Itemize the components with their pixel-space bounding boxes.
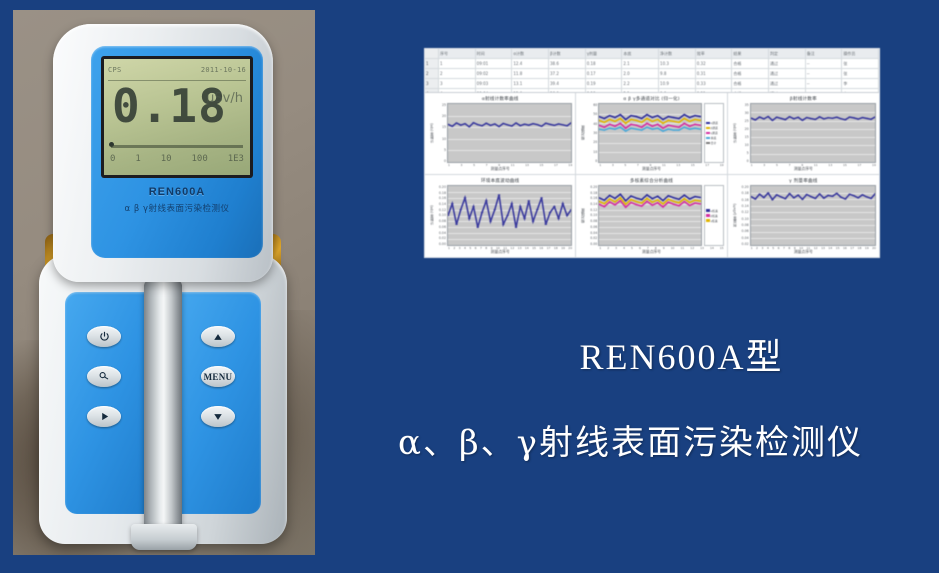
chart-data-point — [532, 123, 535, 124]
slide-root: 核技术应用 MENU 有限公司 — [0, 0, 939, 573]
chart-legend-swatch — [706, 142, 710, 145]
spreadsheet-cell: 序号 — [439, 49, 476, 58]
chart-y-tick: 0.18 — [585, 191, 597, 195]
chart-legend-item: β通道 — [706, 126, 722, 130]
chart-data-point — [604, 129, 606, 130]
chart-data-point — [625, 123, 627, 124]
chart-data-point — [662, 123, 664, 124]
chart-data-point — [652, 117, 654, 118]
chart-data-point — [448, 215, 449, 216]
chart-data-point — [848, 116, 851, 117]
chart-data-point — [476, 227, 479, 228]
chart-data-point — [668, 120, 670, 121]
chart-x-axis-label: 测量点序号 — [731, 167, 876, 172]
chart-data-point — [502, 123, 505, 124]
chart-data-point — [758, 194, 761, 195]
chart-data-point — [609, 119, 611, 120]
lcd-status-date: 2011-10-16 — [201, 66, 246, 74]
chart-y-ticks: 0.200.180.160.140.120.100.080.060.040.02… — [585, 185, 598, 246]
chart-data-point — [762, 118, 765, 119]
chart-data-point — [694, 128, 696, 129]
chart-y-tick: 10 — [737, 143, 749, 147]
chart-gridline — [751, 245, 875, 246]
chart-data-point — [673, 117, 675, 118]
lcd-bezel: CPS 2011-10-16 0.18 µSv/h 0 1 10 — [101, 56, 253, 178]
spreadsheet-cell: α计数 — [512, 49, 549, 58]
chart-title: 多核素综合分析曲线 — [579, 178, 723, 184]
chart-data-point — [865, 196, 868, 197]
chart-y-ticks: 35302520151050 — [737, 103, 750, 163]
chart-y-tick: 20 — [737, 127, 749, 131]
chart-data-point — [662, 128, 664, 129]
chart-data-point — [684, 198, 686, 199]
spreadsheet-cell: 0.19 — [586, 79, 623, 88]
chart-y-tick: 0.06 — [737, 229, 749, 233]
spreadsheet-cell: -- — [806, 69, 843, 78]
chart-legend-item: γ核素 — [706, 219, 722, 223]
chart-data-point — [604, 122, 606, 123]
chart-data-point — [506, 124, 509, 125]
chart-data-point — [835, 117, 838, 118]
chart-data-point — [831, 118, 834, 119]
chart-data-point — [515, 227, 518, 228]
spreadsheet-cell: 张 — [842, 69, 879, 78]
menu-text-icon: MENU — [204, 372, 233, 382]
chart-y-tick: 30 — [585, 131, 597, 135]
chart-data-point — [519, 206, 522, 207]
chart-series-line — [751, 193, 875, 199]
chart-y-tick: 10 — [434, 137, 446, 141]
chart-data-point — [630, 128, 632, 129]
chart-data-point — [459, 209, 462, 210]
chart-legend-label: β核素 — [711, 214, 718, 218]
chart-data-point — [678, 129, 680, 130]
chart-legend-item: β核素 — [706, 214, 722, 218]
chart-data-point — [636, 201, 638, 202]
spreadsheet-cell: -- — [806, 79, 843, 88]
chart-y-tick: 10 — [585, 150, 597, 154]
chart-data-point — [489, 221, 492, 222]
chart-data-point — [822, 118, 825, 119]
chart-plot-area — [598, 103, 701, 163]
chart-legend-swatch — [706, 219, 710, 222]
chart-data-point — [472, 122, 475, 123]
spreadsheet-cell: γ剂量 — [586, 49, 623, 58]
spreadsheet-cell: 0.31 — [696, 69, 733, 78]
chart-data-point — [689, 198, 691, 199]
chart-data-point — [801, 199, 804, 200]
chart-plot-area — [750, 185, 876, 246]
spreadsheet-cell: -- — [806, 59, 843, 68]
chart-y-tick: 0.10 — [434, 213, 446, 217]
chart-data-point — [805, 194, 808, 195]
chart-data-point — [620, 114, 622, 115]
chart-data-point — [549, 124, 552, 125]
chart-data-point — [609, 201, 611, 202]
chart-data-point — [844, 119, 847, 120]
chart-data-point — [451, 203, 454, 204]
chart-data-point — [604, 206, 606, 207]
chart-data-point — [641, 127, 643, 128]
chart-y-tick: 0.18 — [434, 191, 446, 195]
chart-data-point — [788, 116, 791, 117]
chart-y-tick: 0.08 — [434, 219, 446, 223]
chart-data-point — [814, 198, 817, 199]
chart-y-tick: 0.02 — [434, 236, 446, 240]
chart-data-point — [614, 198, 616, 199]
chart-y-tick: 0.08 — [737, 223, 749, 227]
chart-plot-area — [750, 103, 876, 163]
chart-panel: β射线计数率计数率 (cps)3530252015105013579111315… — [728, 93, 879, 175]
spreadsheet-cell: 09:01 — [476, 59, 513, 68]
chart-plot-area — [447, 185, 572, 246]
chart-y-tick: 0.10 — [585, 213, 597, 217]
chart-data-point — [502, 224, 505, 225]
chart-data-point — [657, 199, 659, 200]
chart-data-point — [673, 201, 675, 202]
chart-data-point — [630, 119, 632, 120]
spreadsheet-cell: 38.6 — [549, 59, 586, 68]
chart-y-axis-label: 剂量率 (µSv/h) — [731, 185, 737, 246]
chart-y-tick: 0.14 — [737, 204, 749, 208]
chart-data-point — [668, 195, 670, 196]
spreadsheet-cell: 09:02 — [476, 69, 513, 78]
chart-title: β射线计数率 — [731, 96, 876, 102]
chart-data-point — [609, 124, 611, 125]
chart-data-point — [689, 202, 691, 203]
chart-y-tick: 0.12 — [737, 210, 749, 214]
chart-y-tick: 0.04 — [737, 236, 749, 240]
chart-y-tick: 0.04 — [585, 231, 597, 235]
chart-data-point — [532, 221, 535, 222]
lcd-reading-unit: µSv/h — [206, 91, 243, 106]
chart-data-point — [641, 129, 643, 130]
chart-data-point — [839, 118, 842, 119]
chart-legend-label: α通道 — [711, 121, 718, 125]
chart-data-point — [784, 198, 787, 199]
spreadsheet-cell: 合格 — [732, 79, 769, 88]
down-button[interactable] — [201, 406, 235, 427]
chart-data-point — [515, 122, 518, 123]
spreadsheet-row-index: 3 — [425, 79, 439, 88]
chart-data-point — [536, 124, 539, 125]
chart-data-point — [468, 218, 471, 219]
chart-data-point — [652, 128, 654, 129]
chart-data-point — [625, 207, 627, 208]
chart-data-point — [476, 124, 479, 125]
keypad-panel-right: MENU 有限公司 — [173, 292, 261, 514]
chart-data-point — [455, 122, 458, 123]
chart-x-axis-label: 测量点序号 — [428, 250, 572, 255]
chart-y-tick: 0.16 — [737, 198, 749, 202]
chart-data-point — [673, 126, 675, 127]
power-icon — [99, 331, 110, 342]
chart-y-tick: 0.20 — [737, 185, 749, 189]
chart-y-ticks: 0.200.180.160.140.120.100.080.060.040.02… — [434, 185, 447, 246]
chart-y-axis-label: 相对强度 — [579, 185, 585, 246]
spreadsheet-cell: 2.2 — [622, 79, 659, 88]
chart-data-point — [826, 195, 829, 196]
chart-panel: γ 剂量率曲线剂量率 (µSv/h)0.200.180.160.140.120.… — [728, 175, 879, 257]
lcd-reading-value: 0.18 — [112, 83, 227, 129]
spreadsheet-cell: 0.18 — [586, 59, 623, 68]
power-button[interactable] — [87, 326, 121, 347]
chart-y-tick: 0.12 — [585, 208, 597, 212]
chart-panel: α射线计数率曲线计数率 (cps)25201510501357911131517… — [425, 93, 576, 175]
chart-data-point — [630, 195, 632, 196]
chart-data-point — [636, 128, 638, 129]
chart-data-point — [694, 124, 696, 125]
chart-data-point — [472, 206, 475, 207]
chart-data-point — [641, 202, 643, 203]
chart-data-point — [668, 128, 670, 129]
spreadsheet-cell: 备注 — [806, 49, 843, 58]
chart-data-point — [684, 114, 686, 115]
chart-data-point — [818, 116, 821, 117]
device-upper-shell: CPS 2011-10-16 0.18 µSv/h 0 1 10 — [53, 24, 273, 282]
spreadsheet-cell: 37.2 — [549, 69, 586, 78]
chart-data-point — [553, 206, 556, 207]
chart-data-point — [684, 201, 686, 202]
spreadsheet-cell: 2.0 — [622, 69, 659, 78]
chart-data-point — [861, 194, 864, 195]
spreadsheet-cell: 0.32 — [696, 59, 733, 68]
chart-data-point — [822, 197, 825, 198]
chart-data-point — [801, 120, 804, 121]
chart-data-point — [869, 119, 872, 120]
chart-x-axis-label: 测量点序号 — [579, 250, 723, 255]
chart-title: α射线计数率曲线 — [428, 96, 572, 102]
play-button[interactable] — [87, 406, 121, 427]
chart-data-point — [646, 123, 648, 124]
chart-data-point — [689, 117, 691, 118]
chart-title: 环境本底波动曲线 — [428, 178, 572, 184]
device-handle — [144, 280, 182, 532]
chart-data-point — [869, 198, 872, 199]
chart-data-point — [754, 198, 757, 199]
chart-data-point — [788, 193, 791, 194]
spreadsheet-cell: 时间 — [476, 49, 513, 58]
chart-data-point — [652, 205, 654, 206]
chart-data-point — [609, 115, 611, 116]
chart-data-point — [792, 197, 795, 198]
spreadsheet-cell: 12.4 — [512, 59, 549, 68]
spreadsheet-cell: 操作员 — [842, 49, 879, 58]
chart-data-point — [852, 195, 855, 196]
chart-data-point — [684, 123, 686, 124]
chart-data-point — [620, 118, 622, 119]
chart-data-point — [758, 116, 761, 117]
chart-data-point — [694, 119, 696, 120]
chart-data-point — [566, 125, 569, 126]
chart-y-tick: 0.16 — [434, 196, 446, 200]
chart-data-point — [784, 119, 787, 120]
chart-x-axis-label: 测量点序号 — [731, 250, 876, 255]
chart-y-ticks: 0.200.180.160.140.120.100.080.060.040.02 — [737, 185, 750, 246]
chart-y-tick: 0.12 — [434, 208, 446, 212]
chart-data-point — [652, 121, 654, 122]
chart-data-point — [510, 125, 513, 126]
chart-legend-label: α核素 — [711, 209, 718, 213]
chart-data-point — [657, 115, 659, 116]
chart-data-point — [614, 117, 616, 118]
chart-data-point — [527, 200, 530, 201]
chart-data-point — [684, 127, 686, 128]
chart-gridline — [448, 245, 571, 246]
chart-data-point — [498, 126, 501, 127]
lcd-tick-4: 1E3 — [228, 154, 244, 164]
chart-data-point — [694, 196, 696, 197]
chart-data-point — [506, 215, 509, 216]
chart-data-point — [561, 124, 564, 125]
chart-gridline — [599, 245, 700, 246]
chart-data-point — [771, 120, 774, 121]
spreadsheet-row: 2209:0211.837.20.172.09.80.31合格通过--张 — [425, 69, 879, 79]
chart-data-point — [678, 202, 680, 203]
spreadsheet-cell: 合格 — [732, 69, 769, 78]
chart-legend-label: γ通道 — [711, 131, 718, 135]
device-model-label: REN600A — [91, 186, 263, 198]
chart-data-point — [553, 125, 556, 126]
spreadsheet-cell: 09:03 — [476, 79, 513, 88]
chart-gridline — [448, 162, 571, 163]
spreadsheet-row: 3309:0313.139.40.192.210.90.33合格通过--李 — [425, 79, 879, 89]
chart-data-point — [646, 201, 648, 202]
chart-data-point — [489, 125, 492, 126]
chart-data-point — [498, 194, 501, 195]
data-spreadsheet: 序号时间α计数β计数γ剂量本底净计数效率结果判定备注操作员1109:0112.4… — [425, 49, 879, 93]
chart-data-point — [609, 198, 611, 199]
spreadsheet-cell: 1 — [439, 59, 476, 68]
triangle-up-icon — [212, 332, 224, 342]
chart-data-point — [625, 130, 627, 131]
chart-data-point — [657, 202, 659, 203]
chart-data-point — [809, 118, 812, 119]
spreadsheet-row: 1109:0112.438.60.182.110.30.32合格通过--张 — [425, 59, 879, 69]
chart-title: α β γ多通道对比 (归一化) — [579, 96, 723, 102]
search-button[interactable] — [87, 366, 121, 387]
chart-data-point — [673, 197, 675, 198]
chart-data-point — [689, 126, 691, 127]
chart-data-point — [604, 127, 606, 128]
chart-data-point — [856, 118, 859, 119]
chart-data-point — [549, 212, 552, 213]
chart-y-tick: 0.10 — [737, 217, 749, 221]
chart-legend-item: 合计 — [706, 141, 722, 145]
chart-legend-label: 合计 — [711, 141, 717, 145]
spreadsheet-row-index — [425, 49, 439, 58]
chart-data-point — [805, 117, 808, 118]
spreadsheet-cell: β计数 — [549, 49, 586, 58]
chart-y-tick: 0.02 — [585, 236, 597, 240]
chart-data-point — [762, 197, 765, 198]
chart-title: γ 剂量率曲线 — [731, 178, 876, 184]
chart-y-tick: 25 — [434, 103, 446, 107]
chart-y-tick: 20 — [585, 140, 597, 144]
chart-data-point — [625, 200, 627, 201]
page-title: REN600A型 — [424, 328, 939, 380]
spreadsheet-cell: 李 — [842, 79, 879, 88]
chart-data-point — [566, 215, 569, 216]
chart-y-tick: 0.08 — [585, 219, 597, 223]
chart-data-point — [694, 202, 696, 203]
chart-y-tick: 50 — [585, 112, 597, 116]
menu-button[interactable]: MENU — [201, 366, 235, 387]
spreadsheet-row-index: 2 — [425, 69, 439, 78]
chart-data-point — [657, 128, 659, 129]
chart-y-axis-label: 计数率 (cps) — [428, 185, 434, 246]
up-button[interactable] — [201, 326, 235, 347]
spreadsheet-cell: 10.9 — [659, 79, 696, 88]
chart-data-point — [652, 198, 654, 199]
chart-data-point — [766, 192, 769, 193]
chart-data-point — [519, 125, 522, 126]
chart-data-point — [609, 128, 611, 129]
chart-y-tick: 0.04 — [434, 231, 446, 235]
chart-data-point — [604, 203, 606, 204]
chart-data-point — [694, 200, 696, 201]
spreadsheet-row-index: 1 — [425, 59, 439, 68]
spreadsheet-cell: 0.33 — [696, 79, 733, 88]
chart-data-point — [771, 199, 774, 200]
chart-y-tick: 25 — [737, 119, 749, 123]
chart-data-point — [646, 118, 648, 119]
chart-y-tick: 5 — [434, 148, 446, 152]
chart-data-point — [657, 124, 659, 125]
chart-y-tick: 0.06 — [434, 225, 446, 229]
spreadsheet-cell: 结果 — [732, 49, 769, 58]
chart-data-point — [839, 197, 842, 198]
chart-data-point — [641, 118, 643, 119]
chart-data-point — [852, 117, 855, 118]
chart-data-point — [625, 128, 627, 129]
chart-data-point — [544, 224, 547, 225]
chart-legend-label: β通道 — [711, 126, 718, 130]
chart-data-point — [620, 123, 622, 124]
chart-data-point — [510, 203, 513, 204]
spreadsheet-cell: 10.3 — [659, 59, 696, 68]
chart-data-point — [775, 117, 778, 118]
chart-data-point — [668, 202, 670, 203]
chart-data-point — [662, 206, 664, 207]
chart-data-point — [646, 127, 648, 128]
chart-data-point — [678, 118, 680, 119]
chart-data-point — [792, 118, 795, 119]
chart-legend-label: 本底 — [711, 136, 717, 140]
chart-data-point — [630, 115, 632, 116]
device-bottom-cap — [131, 524, 197, 550]
chart-data-point — [493, 123, 496, 124]
spreadsheet-cell: 净计数 — [659, 49, 696, 58]
chart-data-point — [544, 123, 547, 124]
chart-y-tick: 40 — [585, 122, 597, 126]
lcd-tick-3: 100 — [192, 154, 208, 164]
chart-legend-swatch — [706, 122, 710, 125]
spreadsheet-cell: 39.4 — [549, 79, 586, 88]
spreadsheet-cell: 11.8 — [512, 69, 549, 78]
chart-data-point — [540, 126, 543, 127]
chart-data-point — [652, 126, 654, 127]
chart-data-point — [561, 203, 564, 204]
chart-data-point — [455, 224, 458, 225]
chart-data-point — [861, 117, 864, 118]
chart-data-point — [636, 125, 638, 126]
chart-data-point — [796, 194, 799, 195]
spreadsheet-cell: 通过 — [769, 59, 806, 68]
chart-data-point — [485, 123, 488, 124]
chart-data-point — [668, 125, 670, 126]
chart-data-point — [668, 199, 670, 200]
